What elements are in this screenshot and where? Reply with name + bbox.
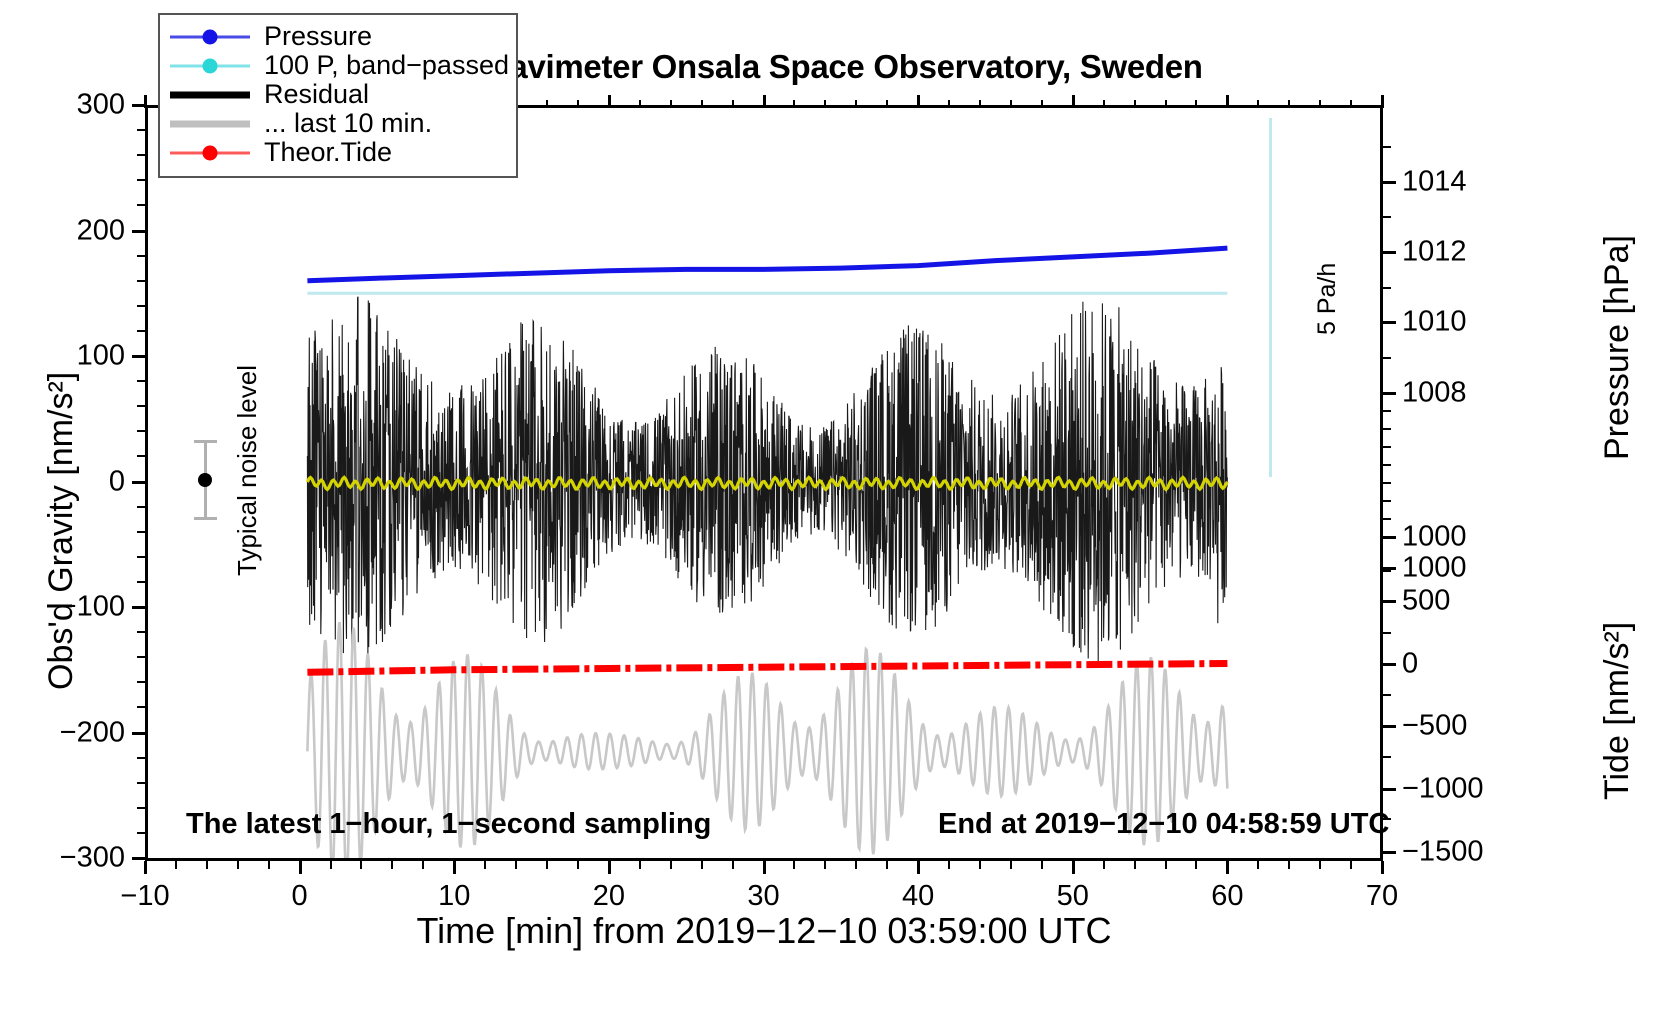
legend-swatch-residual [170,85,250,105]
y-tick-minor [137,154,145,156]
x-tick-major [453,861,456,874]
x-tick-minor [1103,861,1105,869]
y-tick-minor [137,405,145,407]
y-tick-label: 200 [20,214,125,247]
x-tick-major [144,861,147,874]
x-tick-minor [577,861,579,869]
legend-swatch-bandpassed [170,56,250,76]
pressure-tick-minor [1383,518,1391,520]
legend-label-pressure: Pressure [264,21,372,52]
y-tick-major [132,732,145,735]
x-tick-minor [330,861,332,869]
x-tick-minor [1350,861,1352,869]
x-tick-minor [1319,861,1321,869]
y-tick-major [132,606,145,609]
x-tick-minor [515,861,517,869]
pressure-tick-label: 1008 [1402,377,1467,410]
y-tick-minor [137,681,145,683]
tide-tick-major [1383,788,1396,791]
x-tick-minor [855,861,857,869]
pressure-tick-major [1383,536,1396,539]
x-tick-minor [422,861,424,869]
noise-errorbar-dot [198,473,212,487]
pressure-tick-label: 1000 [1402,521,1467,554]
x-tick-minor [268,861,270,869]
typical-noise-level-errorbar [186,440,226,520]
tide-tick-major [1383,600,1396,603]
y-tick-minor [137,204,145,206]
pressure-tick-minor [1383,446,1391,448]
y-tick-minor [137,631,145,633]
pressure-tick-minor [1383,146,1391,148]
x-tick-label: 40 [902,880,934,913]
x-tick-major [917,861,920,874]
x-tick-label: 70 [1366,880,1398,913]
y-tick-minor [137,531,145,533]
legend-item-last10min: ... last 10 min. [170,109,506,138]
chart-root: SCG_054 gravimeter Onsala Space Observat… [0,0,1660,1020]
pressure-tick-minor [1383,410,1391,412]
tide-tick-minor [1383,756,1391,758]
y-tick-label: 100 [20,340,125,373]
y-tick-minor [137,380,145,382]
y-tick-major [132,355,145,358]
pressure-tick-major [1383,321,1396,324]
x-axis-title: Time [min] from 2019−12−10 03:59:00 UTC [145,910,1383,952]
x-tick-minor [701,861,703,869]
x-tick-major [608,861,611,874]
x-tick-label: 50 [1057,880,1089,913]
pressure-tick-label: 1012 [1402,236,1467,269]
y-tick-minor [137,556,145,558]
pressure-tick-major [1383,181,1396,184]
pressure-tick-label: 1014 [1402,166,1467,199]
x-tick-minor [391,861,393,869]
legend-item-theortide: Theor.Tide [170,138,506,167]
pressure-tick-major [1383,251,1396,254]
x-tick-major [1072,861,1075,874]
tide-tick-label: 500 [1402,585,1450,618]
legend-swatch-pressure [170,27,250,47]
y-tick-minor [137,305,145,307]
legend-label-residual: Residual [264,79,369,110]
pressure-scalebar [1269,118,1272,477]
x-tick-minor [1041,861,1043,869]
x-tick-minor [360,861,362,869]
x-tick-minor [1134,861,1136,869]
y-tick-minor [137,832,145,834]
sampling-note: The latest 1−hour, 1−second sampling [186,808,711,841]
pressure-tick-label: 1010 [1402,306,1467,339]
pressure-scalebar-label: 5 Pa/h [1313,263,1342,335]
x-tick-minor [979,861,981,869]
pressure-tick-minor [1383,287,1391,289]
y-tick-major [132,230,145,233]
x-tick-minor [206,861,208,869]
tide-tick-major [1383,851,1396,854]
x-tick-minor [732,861,734,869]
y-tick-major [132,857,145,860]
tide-tick-minor [1383,632,1391,634]
legend-swatch-last10min [170,114,250,134]
y-tick-label: 300 [20,89,125,122]
legend-item-bandpassed: 100 P, band−passed [170,51,506,80]
x-tick-minor [546,861,548,869]
y-axis-right-top-title: Pressure [hPa] [1598,235,1637,460]
x-tick-label: 30 [747,880,779,913]
series-plot [145,105,1382,858]
pressure-tick-minor [1383,482,1391,484]
noise-errorbar-cap-bottom [194,517,217,520]
tide-tick-minor [1383,694,1391,696]
x-tick-minor [1257,861,1259,869]
tide-tick-label: −1000 [1402,773,1483,806]
y-axis-left-title: Obs'd Gravity [nm/s²] [42,372,81,690]
x-tick-minor [237,861,239,869]
noise-errorbar-cap-top [194,440,217,443]
pressure-tick-minor [1383,216,1391,218]
pressure-tick-minor [1383,357,1391,359]
x-tick-minor [793,861,795,869]
y-tick-minor [137,706,145,708]
x-tick-minor [670,861,672,869]
pressure-tick-minor [1383,428,1391,430]
x-tick-label: 20 [593,880,625,913]
y-tick-label: −200 [20,716,125,749]
y-tick-minor [137,782,145,784]
pressure-tick-major [1383,392,1396,395]
y-tick-minor [137,129,145,131]
legend-label-last10min: ... last 10 min. [264,108,432,139]
y-tick-major [132,481,145,484]
x-tick-minor [886,861,888,869]
legend-swatch-theortide [170,143,250,163]
x-tick-minor [484,861,486,869]
legend-item-pressure: Pressure [170,22,506,51]
y-tick-minor [137,656,145,658]
x-tick-minor [824,861,826,869]
legend: Pressure 100 P, band−passed Residual ...… [158,13,518,178]
pressure-tick-minor [1383,500,1391,502]
end-time-note: End at 2019−12−10 04:58:59 UTC [938,808,1389,841]
x-tick-minor [1165,861,1167,869]
x-tick-major [299,861,302,874]
y-tick-minor [137,179,145,181]
tide-tick-label: −500 [1402,710,1467,743]
tide-tick-major [1383,725,1396,728]
y-tick-minor [137,255,145,257]
legend-label-theortide: Theor.Tide [264,137,392,168]
x-tick-label: 0 [292,880,308,913]
x-tick-minor [948,861,950,869]
legend-label-bandpassed: 100 P, band−passed [264,50,509,81]
legend-item-residual: Residual [170,80,506,109]
x-tick-major [1226,861,1229,874]
x-tick-minor [1288,861,1290,869]
tide-tick-label: 1000 [1402,552,1467,585]
y-axis-right-bottom-title: Tide [nm/s²] [1598,622,1637,800]
tide-tick-label: 0 [1402,648,1418,681]
tide-tick-minor [1383,570,1391,572]
y-tick-label: 0 [20,465,125,498]
x-tick-label: −10 [120,880,169,913]
x-tick-major [1381,861,1384,874]
x-tick-minor [1010,861,1012,869]
series-pressure [307,248,1227,281]
x-tick-label: 10 [438,880,470,913]
y-tick-minor [137,757,145,759]
x-tick-minor [639,861,641,869]
y-tick-minor [137,455,145,457]
y-tick-minor [137,330,145,332]
y-tick-label: −100 [20,591,125,624]
series-theor-tide [307,664,1227,673]
typical-noise-level-label: Typical noise level [232,365,263,576]
y-tick-minor [137,581,145,583]
x-tick-major [763,861,766,874]
y-tick-minor [137,506,145,508]
tide-tick-major [1383,663,1396,666]
pressure-tick-minor [1383,464,1391,466]
x-tick-label: 60 [1211,880,1243,913]
y-tick-label: −300 [20,842,125,875]
y-tick-minor [137,280,145,282]
tide-tick-label: −1500 [1402,836,1483,869]
x-tick-minor [1195,861,1197,869]
x-tick-minor [175,861,177,869]
y-tick-minor [137,807,145,809]
y-tick-minor [137,430,145,432]
